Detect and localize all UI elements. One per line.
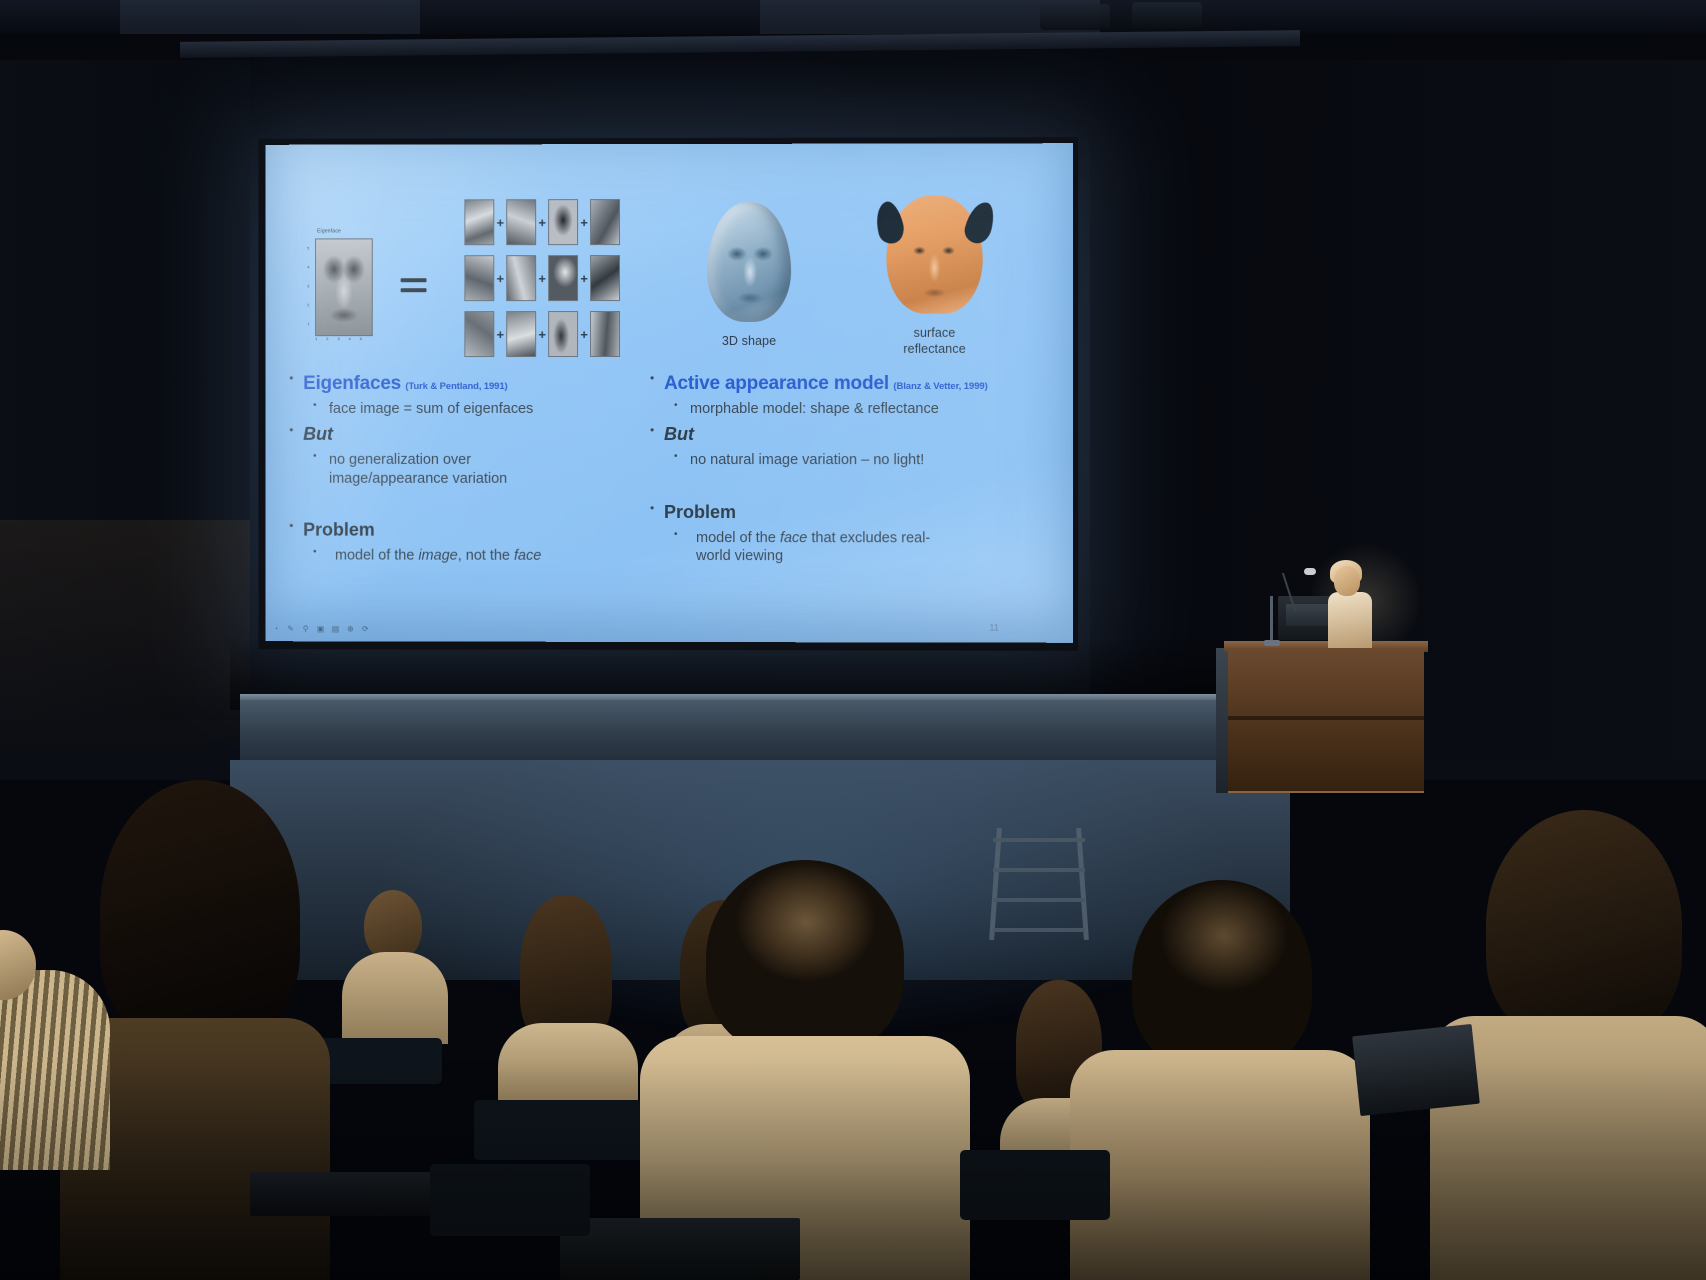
eigenface-cell: 0.78 x (464, 199, 494, 245)
presentation-slide: Eigenface 54321 12345 0.78 x + 0.14 x + … (265, 143, 1073, 643)
right-but-row: But (648, 424, 1069, 446)
magnifier-icon[interactable]: ⚲ (301, 624, 310, 633)
eigenface-cell: 0.44 x (464, 311, 494, 357)
eigenfaces-citation: (Turk & Pentland, 1991) (405, 381, 507, 392)
left-but-heading: But (303, 424, 333, 444)
audience-laptop (560, 1218, 800, 1280)
right-column: Active appearance model (Blanz & Vetter,… (648, 366, 1069, 566)
left-but-sub-line1: no generalization over (329, 452, 471, 468)
seat (474, 1100, 642, 1160)
eigenfaces-sub-1: face image = sum of eigenfaces (287, 400, 666, 418)
equals-icon (401, 278, 427, 294)
ceiling-glow-left (120, 0, 420, 34)
surface-reflectance-caption: surface reflectance (854, 326, 1015, 357)
eigenfaces-heading: Eigenfaces (303, 373, 401, 394)
head (100, 780, 300, 1042)
seat (960, 1150, 1110, 1220)
aam-heading: Active appearance model (664, 373, 889, 394)
head (1132, 880, 1312, 1070)
left-problem-pre: model of the (335, 547, 418, 563)
right-but-sub: no natural image variation – no light! (648, 451, 1069, 470)
ceiling-light-2 (1132, 2, 1202, 28)
seat (312, 1038, 442, 1084)
eigenface-cell: 1.53 x (548, 199, 578, 245)
speaker-head (1334, 566, 1360, 596)
left-spacer (287, 488, 666, 514)
torso (0, 970, 110, 1170)
eigenface-cell: 0.027 x (506, 255, 536, 301)
3d-shape-figure: 3D shape (684, 198, 814, 373)
slideshow-icon[interactable]: ▤ (331, 624, 340, 633)
right-problem-em: face (780, 530, 807, 546)
plot-y-axis-ticks: 54321 (307, 238, 309, 333)
eigenface-cell: 0.66 x (548, 255, 578, 301)
3d-shape-caption: 3D shape (684, 334, 814, 350)
audience-member (640, 860, 970, 1280)
audience-laptop (1352, 1024, 1480, 1116)
ceiling-light-1 (1040, 4, 1110, 30)
target-face-render (316, 239, 372, 335)
plus-icon: + (494, 216, 506, 229)
torso (1070, 1050, 1370, 1280)
eigenface-basis-grid: 0.78 x + 0.14 x + 1.53 x + 0.81 x 4.38 x… (464, 198, 634, 362)
plus-icon: + (536, 328, 548, 341)
eigenface-cell: 0.87 x (506, 311, 536, 357)
head (1486, 810, 1682, 1040)
right-problem-heading: Problem (664, 502, 736, 522)
plus-icon: + (578, 328, 590, 341)
plus-icon: + (494, 272, 506, 285)
left-problem-em2: face (514, 548, 541, 564)
right-problem-sub: model of the face that excludes real-wor… (648, 529, 1069, 566)
eigenface-cell: 4.38 x (464, 255, 494, 301)
audience-laptop (250, 1172, 430, 1216)
pointer-icon[interactable]: ◔ (271, 624, 280, 633)
aam-citation: (Blanz & Vetter, 1999) (893, 381, 987, 392)
pen-icon[interactable]: ✎ (286, 624, 295, 633)
audience-member (0, 930, 130, 1160)
caption-line-2: reflectance (903, 342, 966, 356)
audience-member (340, 890, 450, 1040)
slide-figures: Eigenface 54321 12345 0.78 x + 0.14 x + … (265, 181, 1073, 372)
microphone-base (1264, 640, 1280, 646)
plus-icon: + (536, 272, 548, 285)
speaker-torso (1328, 592, 1372, 648)
right-spacer (648, 470, 1069, 496)
audience (0, 700, 1706, 1280)
globe-icon[interactable]: ⊕ (346, 624, 355, 633)
projection-screen: Eigenface 54321 12345 0.78 x + 0.14 x + … (265, 143, 1073, 643)
head (520, 895, 612, 1043)
plus-icon: + (578, 216, 590, 229)
left-problem-heading: Problem (303, 520, 375, 540)
plot-x-axis-ticks: 12345 (315, 336, 371, 341)
eigenface-row-2: 4.38 x + 0.027 x + 0.66 x + 1.29 x (464, 254, 634, 302)
torso (342, 952, 448, 1044)
eigenface-row-1: 0.78 x + 0.14 x + 1.53 x + 0.81 x (464, 198, 634, 246)
left-but-sub: no generalization over image/appearance … (287, 451, 666, 488)
eigenface-target-image (315, 238, 373, 336)
left-column: Eigenfaces (Turk & Pentland, 1991) face … (287, 366, 666, 565)
eigenface-cell: 0.96 x (548, 311, 578, 357)
slide-body: Eigenfaces (Turk & Pentland, 1991) face … (265, 366, 1073, 607)
slide-toolbar[interactable]: ◔ ✎ ⚲ ▣ ▤ ⊕ ⟳ (271, 624, 369, 633)
plus-icon: + (578, 272, 590, 285)
microphone-stand (1270, 596, 1273, 644)
left-but-sub-line2: image/appearance variation (329, 470, 507, 486)
left-problem-row: Problem (287, 520, 666, 542)
seat (430, 1164, 590, 1236)
auditorium-scene: Eigenface 54321 12345 0.78 x + 0.14 x + … (0, 0, 1706, 1280)
right-problem-pre: model of the (696, 530, 780, 546)
microphone-head (1304, 568, 1316, 575)
reflectance-head-render (886, 196, 982, 314)
left-problem-em: image (418, 548, 457, 564)
caption-line-1: surface (914, 326, 956, 340)
eigenfaces-heading-row: Eigenfaces (Turk & Pentland, 1991) (287, 372, 666, 395)
head (706, 860, 904, 1056)
right-problem-row: Problem (648, 502, 1069, 524)
left-problem-post: , not the (458, 548, 514, 564)
left-but-row: But (287, 424, 666, 446)
audience-member (1070, 880, 1370, 1280)
audience-member (498, 895, 638, 1110)
right-problem-line2: world viewing (696, 548, 783, 564)
eigenface-plot-label: Eigenface (317, 228, 341, 234)
eigenface-cell: 1.08 x (590, 311, 620, 357)
eigenface-cell: 1.29 x (590, 255, 620, 301)
eigenface-row-3: 0.44 x + 0.87 x + 0.96 x + 1.08 x (464, 310, 634, 358)
surface-reflectance-figure: surface reflectance (854, 189, 1015, 375)
plus-icon: + (494, 328, 506, 341)
aam-heading-row: Active appearance model (Blanz & Vetter,… (648, 372, 1069, 395)
left-problem-sub: model of the image, not the face (287, 546, 666, 565)
right-but-heading: But (664, 424, 694, 444)
eigenface-cell: 0.81 x (590, 199, 620, 245)
3d-head-render (707, 202, 791, 322)
right-problem-post: that excludes real- (807, 530, 930, 546)
slide-page-number: 11 (989, 623, 998, 633)
eigenface-cell: 0.14 x (506, 199, 536, 245)
aam-sub-1: morphable model: shape & reflectance (648, 400, 1069, 418)
refresh-icon[interactable]: ⟳ (361, 624, 370, 633)
grid-icon[interactable]: ▣ (316, 624, 325, 633)
eigenface-target-figure: Eigenface 54321 12345 (307, 230, 375, 340)
plus-icon: + (536, 216, 548, 229)
